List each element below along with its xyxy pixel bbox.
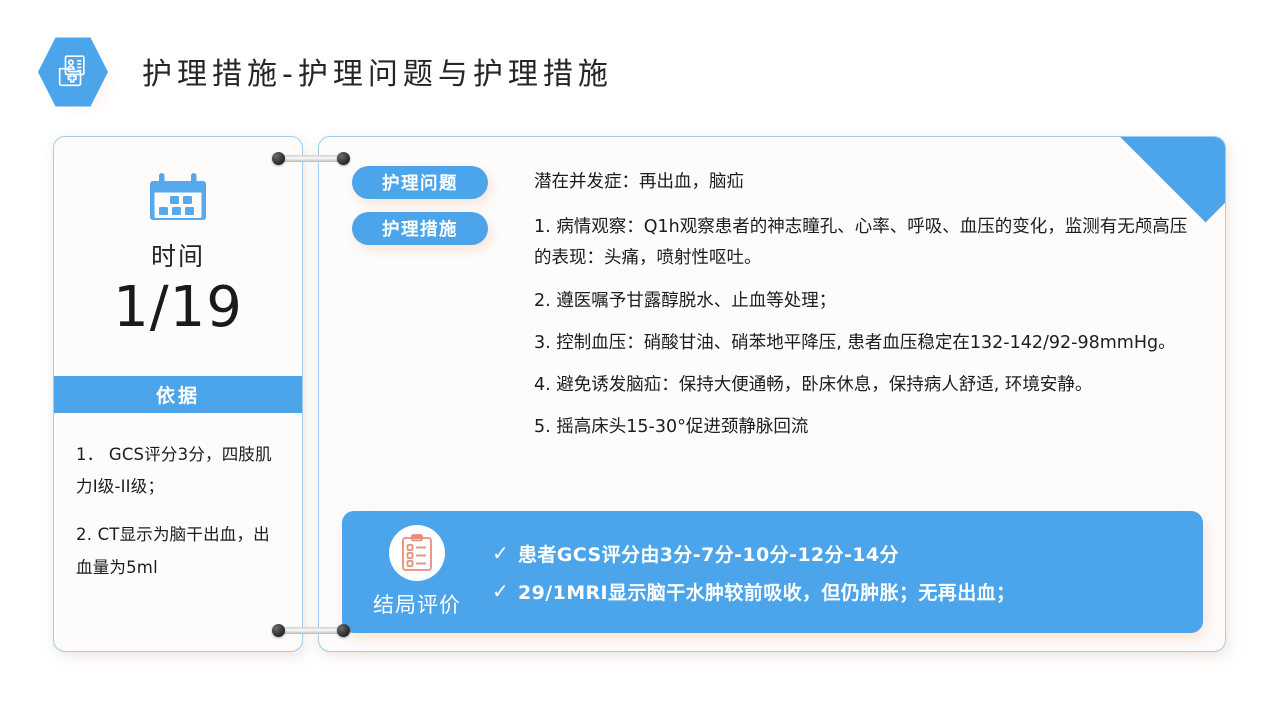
basis-item: 1． GCS评分3分，四肢肌力I级-II级；: [76, 439, 282, 503]
binder-ring-bar: [279, 627, 343, 634]
binder-ring-bar: [279, 155, 343, 162]
nursing-problem-text: 潜在并发症：再出血，脑疝: [534, 166, 744, 199]
measure-item: 3. 控制血压：硝酸甘油、硝苯地平降压, 患者血压稳定在132-142/92-9…: [534, 328, 1199, 359]
nursing-problem-pill[interactable]: 护理问题: [352, 166, 488, 199]
basis-body: 1． GCS评分3分，四肢肌力I级-II级； 2. CT显示为脑干出血，出血量为…: [54, 413, 302, 584]
outcome-item-text: 29/1MRI显示脑干水肿较前吸收，但仍肿胀；无再出血；: [518, 578, 1015, 605]
logo-hexagon: [30, 28, 112, 114]
time-card-top: 时间 1/19: [54, 137, 302, 376]
binder-ring-knob-left: [272, 152, 285, 165]
outcome-items: ✓ 患者GCS评分由3分-7分-10分-12分-14分 ✓ 29/1MRI显示脑…: [492, 529, 1203, 616]
outcome-evaluation-box: 结局评价 ✓ 患者GCS评分由3分-7分-10分-12分-14分 ✓ 29/1M…: [342, 511, 1203, 633]
slide-header: 护理措施-护理问题与护理措施: [0, 28, 1280, 114]
measure-item: 2. 遵医嘱予甘露醇脱水、止血等处理；: [534, 286, 1199, 317]
nursing-measures-list: 1. 病情观察：Q1h观察患者的神志瞳孔、心率、呼吸、血压的变化，监测有无颅高压…: [534, 212, 1199, 454]
outcome-item: ✓ 患者GCS评分由3分-7分-10分-12分-14分: [492, 540, 1193, 567]
check-icon: ✓: [492, 541, 518, 566]
basis-item: 2. CT显示为脑干出血，出血量为5ml: [76, 519, 282, 583]
date-value: 1/19: [113, 279, 243, 338]
nursing-measures-row: 护理措施 1. 病情观察：Q1h观察患者的神志瞳孔、心率、呼吸、血压的变化，监测…: [352, 212, 1199, 454]
calendar-icon: [148, 171, 208, 223]
nursing-content-inner: 护理问题 潜在并发症：再出血，脑疝 护理措施 1. 病情观察：Q1h观察患者的神…: [319, 137, 1225, 651]
check-icon: ✓: [492, 579, 518, 604]
measure-item: 5. 摇高床头15-30°促进颈静脉回流: [534, 412, 1199, 443]
clipboard-checklist-icon: [389, 525, 445, 581]
nursing-content-card: 护理问题 潜在并发症：再出血，脑疝 护理措施 1. 病情观察：Q1h观察患者的神…: [318, 136, 1226, 652]
binder-ring-top: [272, 152, 350, 165]
slide-root: 护理措施-护理问题与护理措施 时间 1/19 依据: [0, 0, 1280, 720]
basis-header-label: 依据: [156, 381, 200, 408]
basis-header-bar: 依据: [54, 376, 302, 413]
outcome-item-text: 患者GCS评分由3分-7分-10分-12分-14分: [518, 540, 899, 567]
page-title: 护理措施-护理问题与护理措施: [142, 49, 613, 93]
binder-ring-knob-right: [337, 624, 350, 637]
binder-ring-knob-right: [337, 152, 350, 165]
measure-item: 1. 病情观察：Q1h观察患者的神志瞳孔、心率、呼吸、血压的变化，监测有无颅高压…: [534, 212, 1199, 274]
nursing-problem-row: 护理问题 潜在并发症：再出血，脑疝: [352, 166, 1199, 199]
time-card: 时间 1/19 依据 1． GCS评分3分，四肢肌力I级-II级； 2. CT显…: [53, 136, 303, 652]
outcome-item: ✓ 29/1MRI显示脑干水肿较前吸收，但仍肿胀；无再出血；: [492, 578, 1193, 605]
time-label: 时间: [151, 237, 205, 273]
binder-ring-bottom: [272, 624, 350, 637]
outcome-badge: 结局评价: [342, 525, 492, 619]
measure-item: 4. 避免诱发脑疝：保持大便通畅，卧床休息，保持病人舒适, 环境安静。: [534, 370, 1199, 401]
binder-ring-knob-left: [272, 624, 285, 637]
nursing-measures-pill[interactable]: 护理措施: [352, 212, 488, 245]
outcome-label: 结局评价: [373, 589, 461, 619]
